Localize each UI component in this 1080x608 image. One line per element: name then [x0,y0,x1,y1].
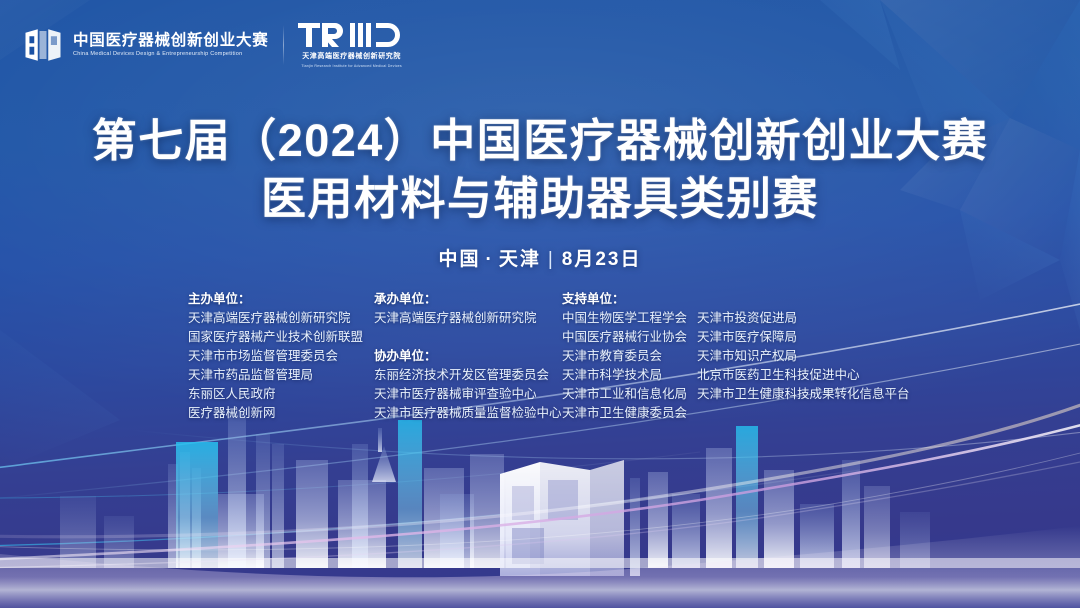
list-item: 东丽经济技术开发区管理委员会 [374,366,562,385]
institute-logo-cn: 天津高端医疗器械创新研究院 [302,51,401,61]
list-item: 东丽区人民政府 [188,385,374,404]
title-block: 第七届（2024）中国医疗器械创新创业大赛 医用材料与辅助器具类别赛 中国·天津… [0,112,1080,271]
event-date: 8月23日 [562,249,642,270]
list-item: 天津市医疗保障局 [697,328,910,347]
open-door-gateway-icon [22,24,64,66]
supporters-column-b: 天津市投资促进局 天津市医疗保障局 天津市知识产权局 北京市医药卫生科技促进中心… [697,290,910,404]
event-city: 天津 [499,249,541,270]
event-poster: 中国医疗器械创新创业大赛 China Medical Devices Desig… [0,0,1080,608]
event-separator: | [541,249,562,271]
list-item: 天津市市场监督管理委员会 [188,347,374,366]
event-country: 中国 [439,249,481,270]
organizations-block: 主办单位： 天津高端医疗器械创新研究院 国家医疗器械产业技术创新联盟 天津市市场… [188,290,910,423]
list-item: 天津高端医疗器械创新研究院 [188,309,374,328]
logo-divider [283,25,284,65]
page-title-line2: 医用材料与辅助器具类别赛 [0,170,1080,228]
event-location-date: 中国·天津|8月23日 [0,244,1080,271]
list-item: 天津市卫生健康科技成果转化信息平台 [697,385,910,404]
column-spacer [374,328,562,347]
supporters-column-a: 支持单位： 中国生物医学工程学会 中国医疗器械行业协会 天津市教育委员会 天津市… [562,290,697,423]
list-item: 国家医疗器械产业技术创新联盟 [188,328,374,347]
organizers-heading: 主办单位： [188,290,374,309]
list-item: 医疗器械创新网 [188,404,374,423]
list-item: 天津市科学技术局 [562,366,697,385]
list-item: 天津市药品监督管理局 [188,366,374,385]
list-item: 天津市卫生健康委员会 [562,404,697,423]
list-item: 北京市医药卫生科技促进中心 [697,366,910,385]
list-item: 天津市教育委员会 [562,347,697,366]
list-item: 天津市医疗器械质量监督检验中心 [374,404,562,423]
host-heading: 承办单位： [374,290,562,309]
organizers-column: 主办单位： 天津高端医疗器械创新研究院 国家医疗器械产业技术创新联盟 天津市市场… [188,290,374,423]
page-title-line1: 第七届（2024）中国医疗器械创新创业大赛 [0,112,1080,170]
list-item: 中国医疗器械行业协会 [562,328,697,347]
coorganizers-heading: 协办单位： [374,347,562,366]
host-coorganizers-column: 承办单位： 天津高端医疗器械创新研究院 协办单位： 东丽经济技术开发区管理委员会… [374,290,562,423]
supporters-heading: 支持单位： [562,290,697,309]
list-item: 天津高端医疗器械创新研究院 [374,309,562,328]
competition-logo-en: China Medical Devices Design & Entrepren… [73,52,273,57]
triid-wordmark-icon [298,22,406,48]
list-item: 天津市投资促进局 [697,309,910,328]
list-item: 中国生物医学工程学会 [562,309,697,328]
institute-logo-en: Tianjin Research Institute for Advanced … [301,64,402,68]
column-spacer [697,290,910,309]
list-item: 天津市知识产权局 [697,347,910,366]
list-item: 天津市工业和信息化局 [562,385,697,404]
header-logo-bar: 中国医疗器械创新创业大赛 China Medical Devices Desig… [22,22,406,68]
list-item: 天津市医疗器械审评查验中心 [374,385,562,404]
competition-logo-cn: 中国医疗器械创新创业大赛 [73,33,269,49]
competition-logo: 中国医疗器械创新创业大赛 China Medical Devices Desig… [22,24,269,66]
institute-logo: 天津高端医疗器械创新研究院 Tianjin Research Institute… [298,22,406,68]
event-dot: · [481,249,499,271]
